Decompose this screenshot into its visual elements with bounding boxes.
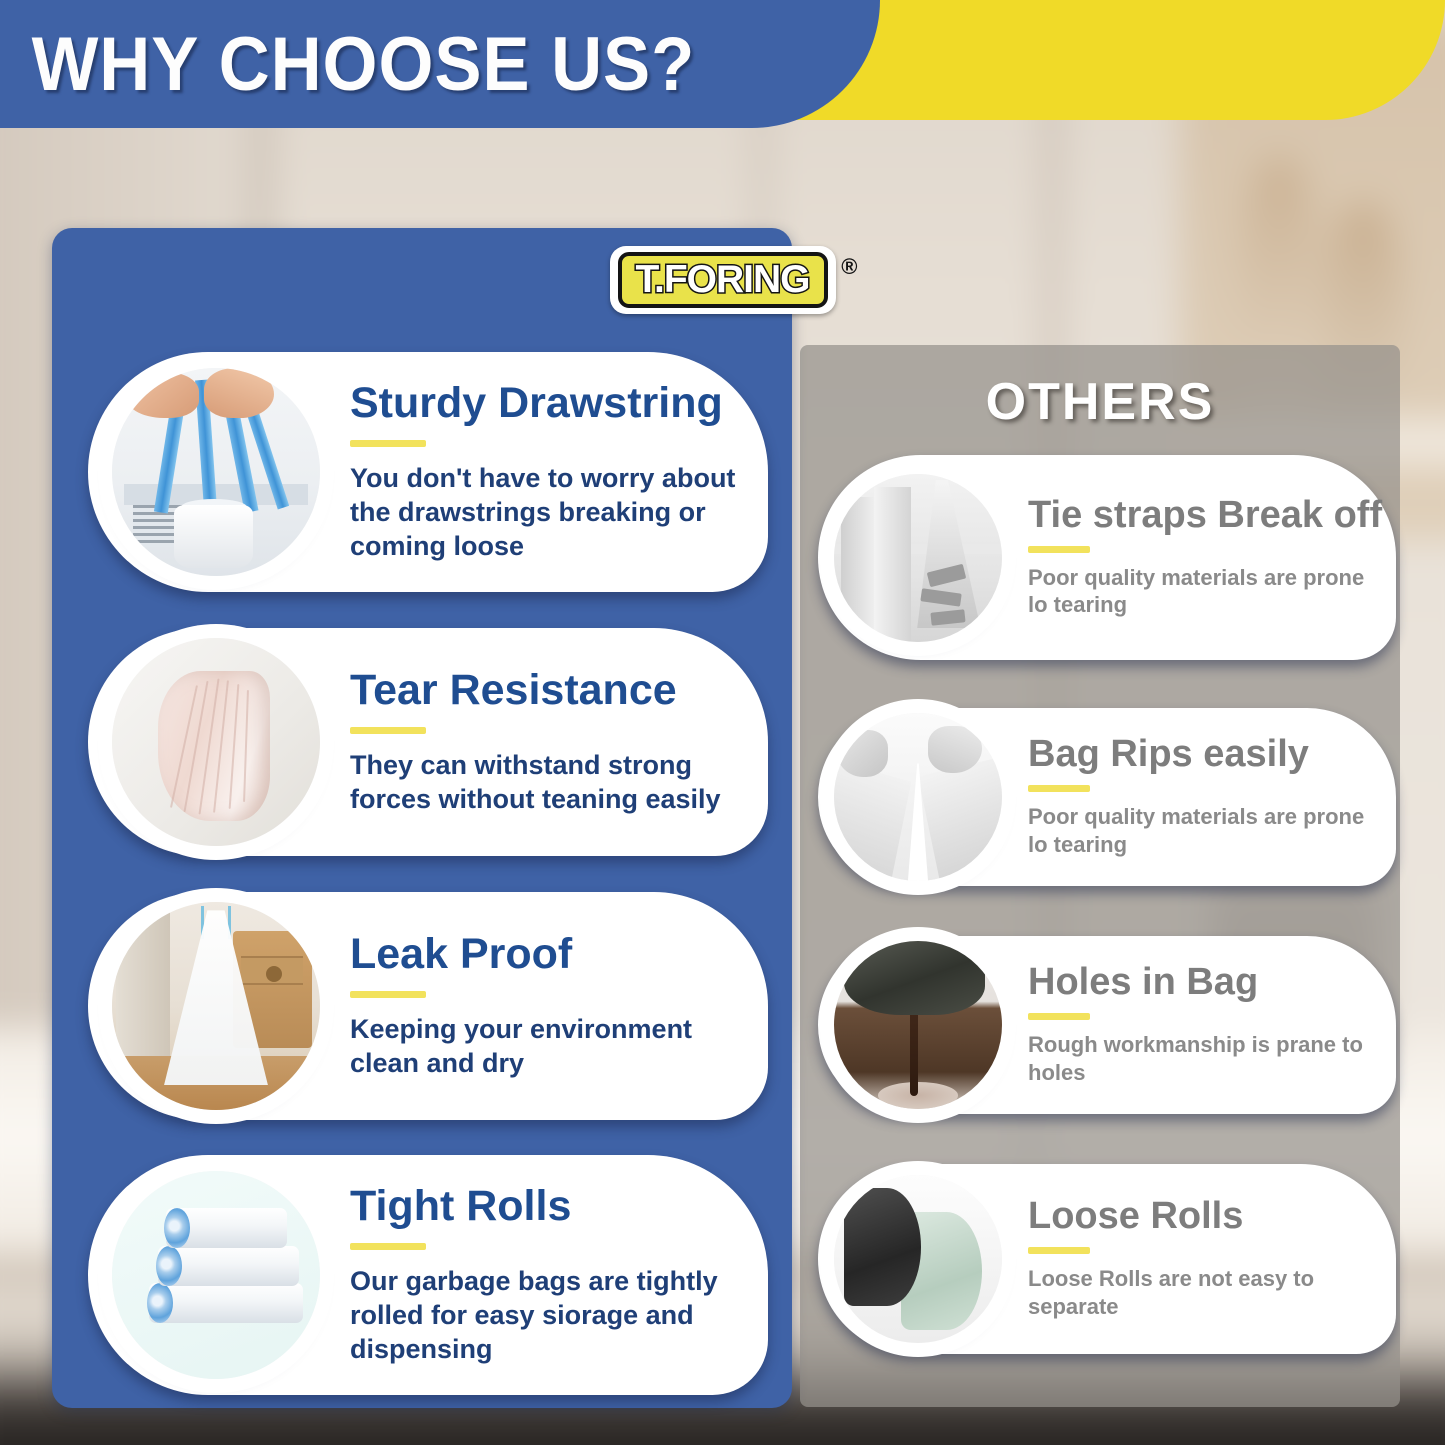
feature-description: They can withstand strong forces without… xyxy=(350,748,750,816)
feature-description: You don't have to worry about the drawst… xyxy=(350,461,750,563)
drawback-title: Loose Rolls xyxy=(1028,1197,1378,1237)
drawback-description: Poor quality materials are prone lo tear… xyxy=(1028,564,1382,619)
feature-card-sturdy-drawstring[interactable]: Sturdy Drawstring You don't have to worr… xyxy=(88,352,768,592)
accent-divider xyxy=(350,1243,426,1250)
drawback-description: Poor quality materials are prone lo tear… xyxy=(1028,803,1378,858)
drawback-description: Loose Rolls are not easy to separate xyxy=(1028,1265,1378,1320)
drawback-card-tie-straps-break-off[interactable]: Tie straps Break off Poor quality materi… xyxy=(818,455,1396,660)
hands-ripping-bag-photo xyxy=(834,713,1002,881)
leaking-black-bag-photo xyxy=(834,941,1002,1109)
drawback-description: Rough workmanship is prane to holes xyxy=(1028,1031,1378,1086)
accent-divider xyxy=(350,727,426,734)
accent-divider xyxy=(350,440,426,447)
drawback-title: Holes in Bag xyxy=(1028,963,1378,1003)
accent-divider xyxy=(1028,1247,1090,1254)
brand-logo: T.FORING ® xyxy=(610,246,836,314)
stretched-clear-film-photo xyxy=(112,638,320,846)
feature-title: Tear Resistance xyxy=(350,668,750,713)
brand-logo-text: T.FORING xyxy=(636,260,810,299)
feature-card-leak-proof[interactable]: Leak Proof Keeping your environment clea… xyxy=(88,892,768,1120)
feature-title: Tight Rolls xyxy=(350,1184,750,1229)
accent-divider xyxy=(1028,1013,1090,1020)
feature-card-tear-resistance[interactable]: Tear Resistance They can withstand stron… xyxy=(88,628,768,856)
page-title: WHY CHOOSE US? xyxy=(0,21,695,108)
accent-divider xyxy=(350,991,426,998)
registered-trademark-icon: ® xyxy=(841,254,857,280)
feature-card-tight-rolls[interactable]: Tight Rolls Our garbage bags are tightly… xyxy=(88,1155,768,1395)
drawback-card-loose-rolls[interactable]: Loose Rolls Loose Rolls are not easy to … xyxy=(818,1164,1396,1354)
feature-title: Leak Proof xyxy=(350,932,750,977)
feature-title: Sturdy Drawstring xyxy=(350,381,750,426)
feature-description: Keeping your environment clean and dry xyxy=(350,1012,750,1080)
drawback-card-bag-rips-easily[interactable]: Bag Rips easily Poor quality materials a… xyxy=(818,708,1396,886)
drawback-title: Bag Rips easily xyxy=(1028,735,1378,775)
accent-divider xyxy=(1028,785,1090,792)
header-banner: WHY CHOOSE US? xyxy=(0,0,880,128)
drawback-title: Tie straps Break off xyxy=(1028,496,1382,536)
others-column-title: OTHERS xyxy=(800,372,1400,432)
feature-description: Our garbage bags are tightly rolled for … xyxy=(350,1264,750,1366)
hanging-bag-in-room-photo xyxy=(112,902,320,1110)
person-carrying-thin-bag-photo xyxy=(834,474,1002,642)
loose-bag-rolls-photo xyxy=(834,1175,1002,1343)
accent-divider xyxy=(1028,546,1090,553)
stacked-bag-rolls-photo xyxy=(112,1171,320,1379)
hands-stretching-blue-drawstring-photo xyxy=(112,368,320,576)
drawback-card-holes-in-bag[interactable]: Holes in Bag Rough workmanship is prane … xyxy=(818,936,1396,1114)
